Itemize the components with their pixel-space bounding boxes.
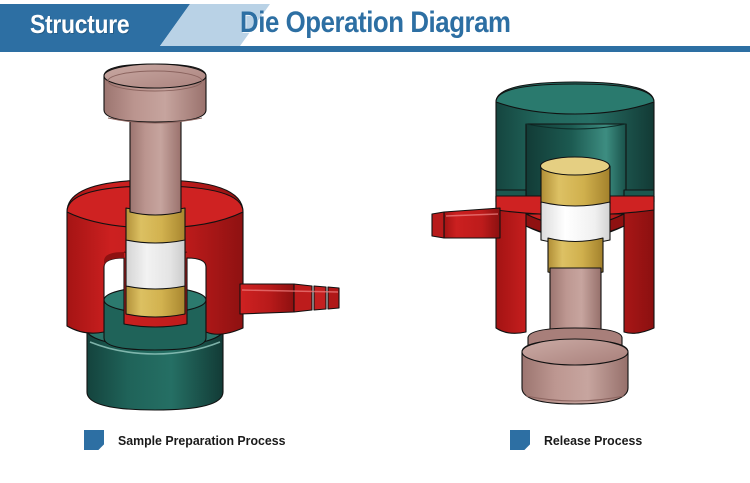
- page-header: Structure Die Operation Diagram: [0, 0, 750, 52]
- page-root: Structure Die Operation Diagram: [0, 0, 750, 483]
- part-sample-pellet: [126, 238, 185, 289]
- part-plunger-right: [522, 268, 628, 404]
- part-sample-pellet-right: [541, 202, 610, 244]
- blue-notched-square-icon: [84, 430, 104, 450]
- diagram-release: [430, 62, 720, 412]
- page-title: Die Operation Diagram: [0, 6, 750, 40]
- legend-label-sample-preparation: Sample Preparation Process: [118, 433, 285, 448]
- legend-label-release: Release Process: [544, 433, 642, 448]
- legend-item-sample-preparation: Sample Preparation Process: [84, 430, 294, 450]
- legend-item-release: Release Process: [510, 430, 647, 450]
- diagram-sample-preparation: [60, 62, 350, 412]
- part-side-nozzle-right: [432, 208, 500, 238]
- part-brass-ring-upper-right: [541, 157, 611, 208]
- header-underline: [0, 46, 750, 52]
- page-title-text: Die Operation Diagram: [240, 6, 511, 40]
- part-side-nozzle: [240, 284, 339, 314]
- blue-notched-square-icon: [510, 430, 530, 450]
